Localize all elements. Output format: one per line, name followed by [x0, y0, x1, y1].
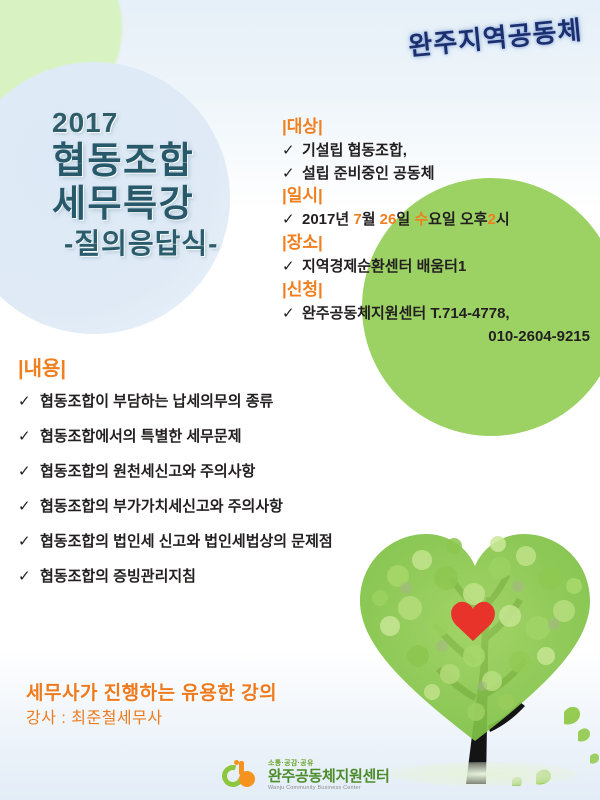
- target-item-2-label: 설립 준비중인 공동체: [302, 163, 594, 185]
- content-item-label: 협동조합의 법인세 신고와 법인세법상의 문제점: [40, 533, 333, 551]
- datetime-weekday-highlight: 수: [414, 211, 428, 228]
- footer-instructor: 강사 : 최준철세무사: [26, 707, 277, 731]
- target-item-1-label: 기설립 협동조합,: [302, 140, 594, 162]
- heart-tree-illustration: [350, 516, 600, 786]
- datetime-item: ✓ 2017년 7월 26일 수요일 오후2시: [282, 209, 594, 231]
- info-column: |대상| ✓ 기설립 협동조합, ✓ 설립 준비중인 공동체 |일시| ✓ 20…: [282, 116, 594, 348]
- datetime-ampm: 오후: [460, 211, 488, 228]
- place-value: 지역경제순환센터 배움터1: [302, 256, 594, 278]
- apply-item: ✓ 완주공동체지원센터 T.714-4778,: [282, 303, 594, 325]
- content-item: ✓ 협동조합이 부담하는 납세의무의 종류: [18, 393, 468, 411]
- footer-headline: 세무사가 진행하는 유용한 강의: [26, 681, 277, 707]
- section-heading-target: |대상|: [282, 116, 594, 139]
- check-icon: ✓: [18, 568, 40, 586]
- footer-text-block: 세무사가 진행하는 유용한 강의 강사 : 최준철세무사: [26, 681, 277, 731]
- place-item: ✓ 지역경제순환센터 배움터1: [282, 256, 594, 278]
- check-icon: ✓: [282, 140, 302, 162]
- datetime-hour-number: 2: [488, 211, 496, 228]
- content-item-label: 협동조합의 원천세신고와 주의사항: [40, 463, 255, 481]
- title-subtitle: -질의응답식-: [64, 226, 218, 262]
- datetime-hour-unit: 시: [496, 211, 510, 228]
- content-item: ✓ 협동조합의 부가가치세신고와 주의사항: [18, 498, 468, 516]
- content-item-label: 협동조합에서의 특별한 세무문제: [40, 428, 242, 446]
- title-line-1: 협동조합: [52, 139, 218, 183]
- check-icon: ✓: [282, 303, 302, 325]
- datetime-year: 2017년: [302, 211, 349, 228]
- logo-english-name: Wanju Community Business Center: [268, 786, 390, 792]
- content-item-label: 협동조합이 부담하는 납세의무의 종류: [40, 393, 273, 411]
- content-item-label: 협동조합의 부가가치세신고와 주의사항: [40, 498, 283, 516]
- datetime-weekday-rest: 요일: [428, 211, 456, 228]
- datetime-month-unit: 월: [362, 211, 376, 228]
- datetime-month-number: 7: [353, 211, 361, 228]
- poster-canvas: 완주지역공동체 2017 협동조합 세무특강 -질의응답식- |대상| ✓ 기설…: [0, 0, 600, 800]
- title-line-2: 세무특강: [52, 182, 218, 226]
- section-heading-content: |내용|: [18, 352, 468, 381]
- title-year: 2017: [52, 108, 218, 139]
- logo-mark-icon: [222, 760, 262, 792]
- tree-ground-shadow: [388, 762, 578, 786]
- check-icon: ✓: [18, 463, 40, 481]
- check-icon: ✓: [18, 533, 40, 551]
- logo-tagline: 소통·공감·공유: [268, 760, 390, 767]
- target-item-2: ✓ 설립 준비중인 공동체: [282, 163, 594, 185]
- check-icon: ✓: [282, 163, 302, 185]
- content-item-label: 협동조합의 증빙관리지침: [40, 568, 196, 586]
- section-heading-place: |장소|: [282, 232, 594, 255]
- check-icon: ✓: [282, 209, 302, 231]
- apply-contact-line-2: 010-2604-9215: [282, 326, 594, 349]
- organization-logo: 소통·공감·공유 완주공동체지원센터 Wanju Community Busin…: [222, 760, 390, 792]
- check-icon: ✓: [18, 428, 40, 446]
- apply-contact-line-1: 완주공동체지원센터 T.714-4778,: [302, 303, 594, 325]
- check-icon: ✓: [282, 256, 302, 278]
- datetime-value: 2017년 7월 26일 수요일 오후2시: [302, 209, 594, 231]
- content-item: ✓ 협동조합의 원천세신고와 주의사항: [18, 463, 468, 481]
- datetime-day-number: 26: [380, 211, 397, 228]
- poster-title-block: 2017 협동조합 세무특강 -질의응답식-: [52, 108, 218, 263]
- check-icon: ✓: [18, 498, 40, 516]
- logo-text-block: 소통·공감·공유 완주공동체지원센터 Wanju Community Busin…: [268, 760, 390, 792]
- target-item-1: ✓ 기설립 협동조합,: [282, 140, 594, 162]
- check-icon: ✓: [18, 393, 40, 411]
- section-heading-apply: |신청|: [282, 279, 594, 302]
- logo-ball-shape: [239, 771, 255, 787]
- content-item: ✓ 협동조합에서의 특별한 세무문제: [18, 428, 468, 446]
- logo-name: 완주공동체지원센터: [268, 769, 390, 784]
- datetime-day-unit: 일: [396, 211, 410, 228]
- section-heading-datetime: |일시|: [282, 185, 594, 208]
